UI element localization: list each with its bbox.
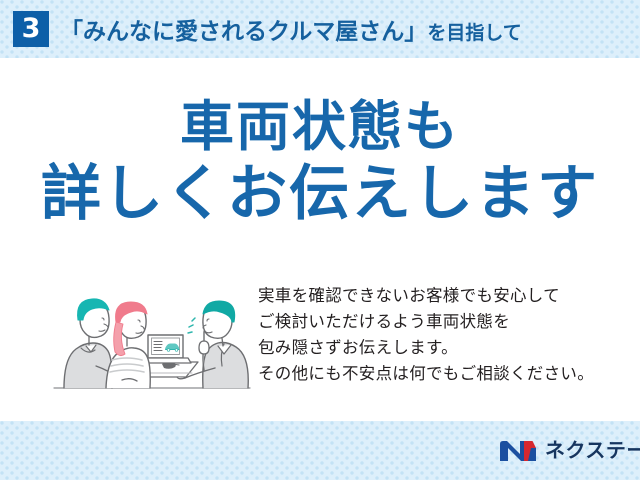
header-title: 「みんなに愛されるクルマ屋さん」 を目指して <box>60 12 522 46</box>
main-headline: 車両状態も 詳しくお伝えします <box>0 96 640 228</box>
body-copy-line: 実車を確認できないお客様でも安心して <box>258 283 594 309</box>
brand-wordmark: ネクステージ <box>545 438 640 464</box>
header-title-suffix: を目指して <box>427 18 521 45</box>
nextage-n-logo-icon <box>498 438 538 464</box>
step-number-badge: 3 <box>13 11 49 47</box>
promo-slide: 3 「みんなに愛されるクルマ屋さん」 を目指して 車両状態も 詳しくお伝えします <box>0 0 640 480</box>
brand-logo: ネクステージ <box>498 437 640 465</box>
headline-line-1: 車両状態も <box>0 96 640 159</box>
header-title-main: 「みんなに愛されるクルマ屋さん」 <box>60 12 427 46</box>
consultation-illustration <box>52 276 252 392</box>
headline-line-2: 詳しくお伝えします <box>0 159 640 229</box>
body-copy-line: ご検討いただけるよう車両状態を <box>258 309 594 335</box>
body-copy: 実車を確認できないお客様でも安心して ご検討いただけるよう車両状態を 包み隠さず… <box>258 283 594 387</box>
body-copy-line: その他にも不安点は何でもご相談ください。 <box>258 361 594 387</box>
body-copy-line: 包み隠さずお伝えします。 <box>258 335 594 361</box>
